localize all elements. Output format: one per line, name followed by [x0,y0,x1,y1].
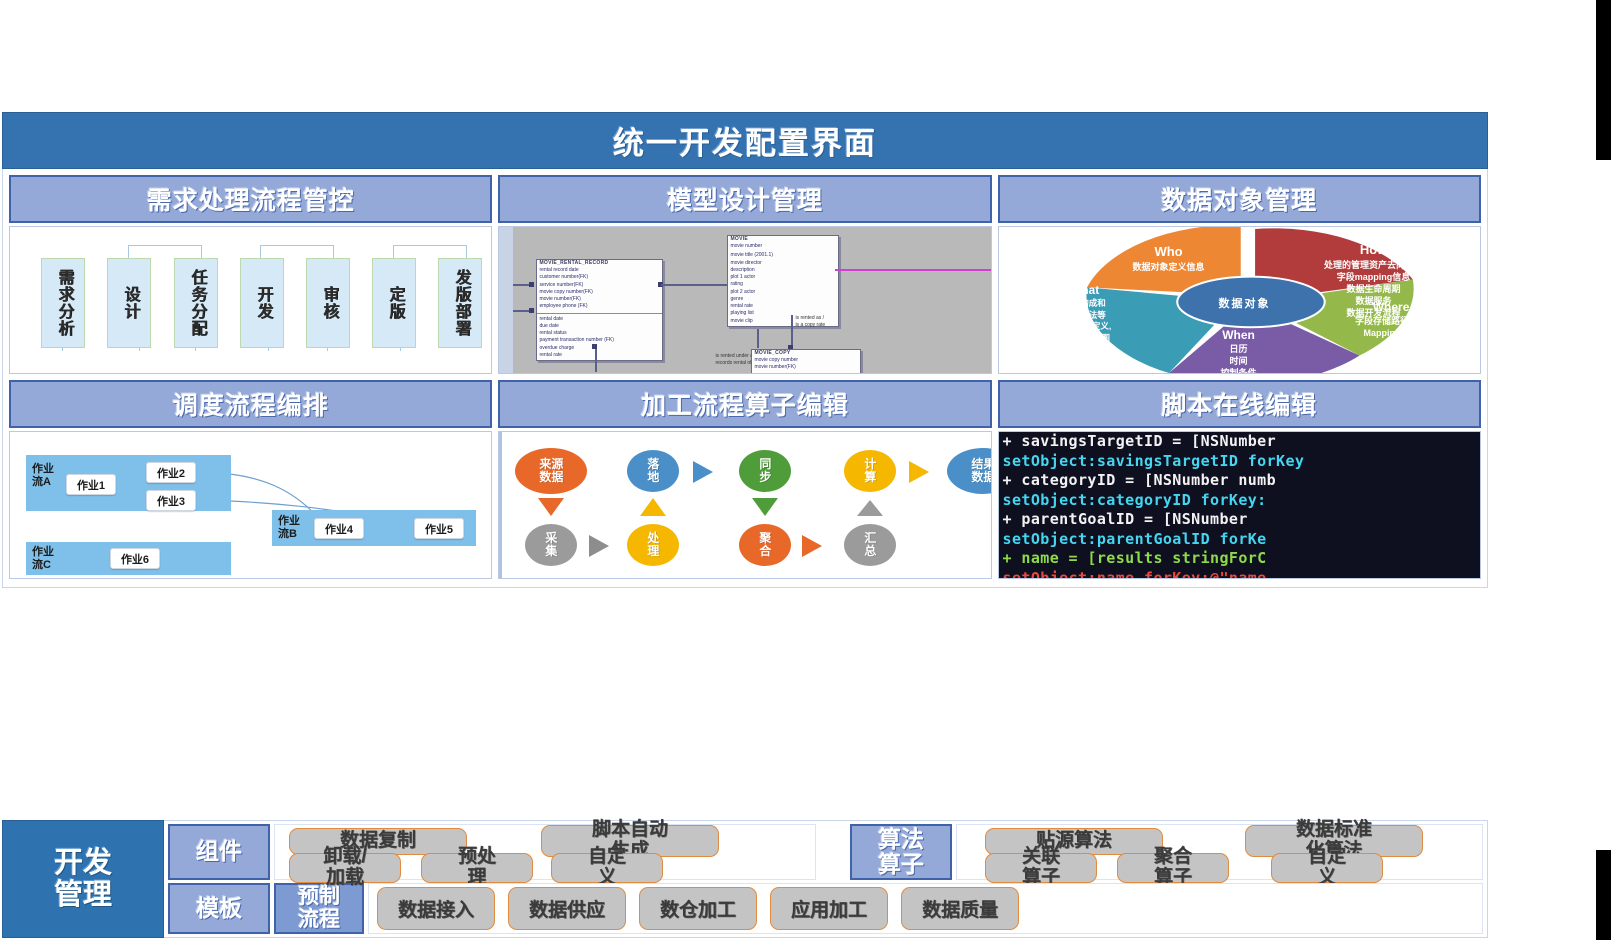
step-box[interactable]: 设计 [107,258,151,348]
operator-left-rail [499,432,502,578]
dev-row-templates: 模板 预制 流程 数据接入 数据供应 数仓加工 应用加工 数据质量 [168,883,1483,934]
arrow-up-icon [640,498,666,516]
requirement-flow-diagram: 需求分析 设计 任务分配 开发 审核 定版 发版部署 [10,227,491,373]
panel-schedule-title: 调度流程编排 [173,386,329,422]
step-box[interactable]: 发版部署 [438,258,482,348]
job-node[interactable]: 作业1 [66,474,116,495]
arrow-right-icon [693,461,713,483]
panel-row-bottom: 调度流程编排 作业流A 作业1 [9,380,1481,579]
er-divider [752,374,860,375]
arrow-down-icon [752,498,778,516]
flow-group-label: 作业流A [32,463,54,488]
chip-component[interactable]: 自定 义 [551,853,663,883]
operator-node-collect[interactable]: 采 集 [525,524,577,566]
operator-node-process[interactable]: 处 理 [627,524,679,566]
job-node[interactable]: 作业5 [414,518,464,539]
template-chip-row: 数据接入 数据供应 数仓加工 应用加工 数据质量 [369,884,1482,933]
panel-row-top: 需求处理流程管控 需求分析 设计 任务分配 开发 审核 [9,175,1481,374]
chip-template[interactable]: 数据质量 [901,887,1019,930]
chip-component[interactable]: 预处 理 [421,853,533,883]
er-sidebar [499,227,513,373]
chip-algorithm[interactable]: 关联 算子 [985,853,1097,883]
dev-content: 组件 数据复制 脚本自动 生成 卸载/ 加载 预处 理 自定 义 算法 算子 贴… [164,820,1488,938]
flow-group-label: 作业流C [32,546,54,571]
pie-center-label: 数据对象 [1175,295,1315,311]
dev-management-section: 开发 管理 组件 数据复制 脚本自动 生成 卸载/ 加载 预处 理 自定 义 算… [2,820,1488,938]
er-key-rows: movie number [728,242,838,251]
operator-diagram: 来源 数据 落 地 同 步 计 算 [499,432,990,578]
arrow-right-icon [589,535,609,557]
panel-model-header: 模型设计管理 [498,175,991,223]
dev-management-label: 开发 管理 [2,820,164,938]
dev-title: 开发 管理 [54,847,112,912]
algorithm-chipbox: 贴源算法 数据标准 化算法 关联 算子 聚合 算子 自定 义 [956,824,1483,880]
chip-component[interactable]: 卸载/ 加载 [289,853,401,883]
panel-script-body: + savingsTargetID = [NSNumber setObject:… [998,431,1481,579]
job-node[interactable]: 作业2 [146,462,196,483]
flow-group-a[interactable]: 作业流A [26,455,231,511]
arrow-down-icon [538,498,564,516]
step-box[interactable]: 开发 [240,258,284,348]
operator-node-compute[interactable]: 计 算 [844,450,896,492]
arrow-right-icon [909,461,929,483]
panel-model-design[interactable]: 模型设计管理 MOVIE_RENTAL_RECORD rental [498,175,991,374]
pie-label-who: Who 数据对象定义信息 [1099,243,1239,273]
operator-node-result[interactable]: 结果 数据 [947,448,991,494]
data-object-pie-chart: How 处理的管理资产去向算法 字段mapping信息 数据生命周期 数据服务 … [999,227,1480,373]
operator-node-source[interactable]: 来源 数据 [515,448,587,494]
panel-requirement-body: 需求分析 设计 任务分配 开发 审核 定版 发版部署 [9,226,492,374]
er-endpoint [529,308,534,313]
er-diagram: MOVIE_RENTAL_RECORD rental record date c… [499,227,990,373]
panels-area: 需求处理流程管控 需求分析 设计 任务分配 开发 审核 [2,169,1488,588]
panel-dataobject-title: 数据对象管理 [1161,181,1317,217]
schedule-diagram: 作业流A 作业1 作业2 作业3 作业流B 作业4 作业5 作业流C [10,432,491,578]
category-algorithm[interactable]: 算法 算子 [850,824,952,880]
operator-node-land[interactable]: 落 地 [627,450,679,492]
panel-model-body: MOVIE_RENTAL_RECORD rental record date c… [498,226,991,374]
category-preset-process[interactable]: 预制 流程 [274,883,364,934]
er-table[interactable]: MOVIE_RENTAL_RECORD rental record date c… [536,259,663,361]
panel-schedule-body: 作业流A 作业1 作业2 作业3 作业流B 作业4 作业5 作业流C [9,431,492,579]
er-endpoint [529,282,534,287]
panel-dataobject-header: 数据对象管理 [998,175,1481,223]
job-node[interactable]: 作业4 [314,518,364,539]
panel-schedule-header: 调度流程编排 [9,380,492,428]
panel-operator-body: 来源 数据 落 地 同 步 计 算 [498,431,991,579]
components-chipbox: 数据复制 脚本自动 生成 卸载/ 加载 预处 理 自定 义 [274,824,816,880]
panel-script-title: 脚本在线编辑 [1161,386,1317,422]
er-key-rows: movie copy number movie number(FK) [752,356,860,373]
pie-label-when: When 日历 时间 控制条件 [1174,327,1304,374]
chip-template[interactable]: 数仓加工 [639,887,757,930]
panel-schedule[interactable]: 调度流程编排 作业流A 作业1 [9,380,492,579]
flow-group-label: 作业流B [278,515,300,540]
chip-template[interactable]: 应用加工 [770,887,888,930]
templates-chipbox: 数据接入 数据供应 数仓加工 应用加工 数据质量 [368,883,1483,934]
arrow-right-icon [802,535,822,557]
app-title-bar: 统一开发配置界面 [2,112,1488,169]
job-node[interactable]: 作业6 [110,548,160,569]
chip-algorithm[interactable]: 贴源算法 [985,828,1163,855]
category-templates[interactable]: 模板 [168,883,270,934]
er-table[interactable]: MOVIE movie number movie title (2001.1) … [727,235,839,327]
er-table[interactable]: MOVIE_COPY movie copy number movie numbe… [751,349,861,374]
step-box[interactable]: 定版 [372,258,416,348]
step-box[interactable]: 需求分析 [41,258,85,348]
panel-script-header: 脚本在线编辑 [998,380,1481,428]
panel-operator[interactable]: 加工流程算子编辑 来源 数据 落 地 同 步 [498,380,991,579]
er-divider [537,313,662,314]
chip-component[interactable]: 数据复制 [289,828,467,855]
chip-template[interactable]: 数据供应 [508,887,626,930]
category-components[interactable]: 组件 [168,824,270,880]
er-key-rows: rental record date customer number(FK) s… [537,266,662,312]
panel-requirement[interactable]: 需求处理流程管控 需求分析 设计 任务分配 开发 审核 [9,175,492,374]
er-endpoint [592,344,597,349]
arrow-up-icon [857,500,883,516]
chip-template[interactable]: 数据接入 [377,887,495,930]
panel-dataobject-body: How 处理的管理资产去向算法 字段mapping信息 数据生命周期 数据服务 … [998,226,1481,374]
operator-node-sync[interactable]: 同 步 [739,450,791,492]
panel-requirement-header: 需求处理流程管控 [9,175,492,223]
operator-node-summary[interactable]: 汇 总 [844,524,896,566]
chip-algorithm[interactable]: 聚合 算子 [1117,853,1229,883]
step-box[interactable]: 任务分配 [174,258,218,348]
operator-node-aggregate[interactable]: 聚 合 [739,524,791,566]
dev-row-components: 组件 数据复制 脚本自动 生成 卸载/ 加载 预处 理 自定 义 算法 算子 贴… [168,824,1483,880]
pie-label-what: What 数据构成和 数据用法等 数据对象定义, 资产质量视图 [1025,282,1145,344]
panel-operator-header: 加工流程算子编辑 [498,380,991,428]
panel-script[interactable]: 脚本在线编辑 + savingsTargetID = [NSNumber set… [998,380,1481,579]
panel-requirement-title: 需求处理流程管控 [147,181,355,217]
er-relation-label: is rented under /records rental of [715,353,751,367]
er-field-rows: rental date due date rental status payme… [537,315,662,361]
app-container: 统一开发配置界面 需求处理流程管控 需求分析 [2,112,1488,819]
panel-model-title: 模型设计管理 [667,181,823,217]
er-connector-highlight [835,269,991,271]
er-connector [595,346,597,372]
app-title: 统一开发配置界面 [613,118,877,163]
pie-label-where: Where 字段存储路径信息 Mapping关系 [1329,299,1454,339]
right-edge-strip-bottom [1596,850,1611,940]
code-editor[interactable]: + savingsTargetID = [NSNumber setObject:… [999,432,1480,578]
step-box[interactable]: 审核 [306,258,350,348]
er-relation-label: is rented as /is a copy rate [795,315,825,329]
job-node[interactable]: 作业3 [146,490,196,511]
chip-algorithm[interactable]: 自定 义 [1271,853,1383,883]
panel-operator-title: 加工流程算子编辑 [641,386,849,422]
right-edge-strip-top [1596,0,1611,160]
panel-data-object[interactable]: 数据对象管理 [998,175,1481,374]
